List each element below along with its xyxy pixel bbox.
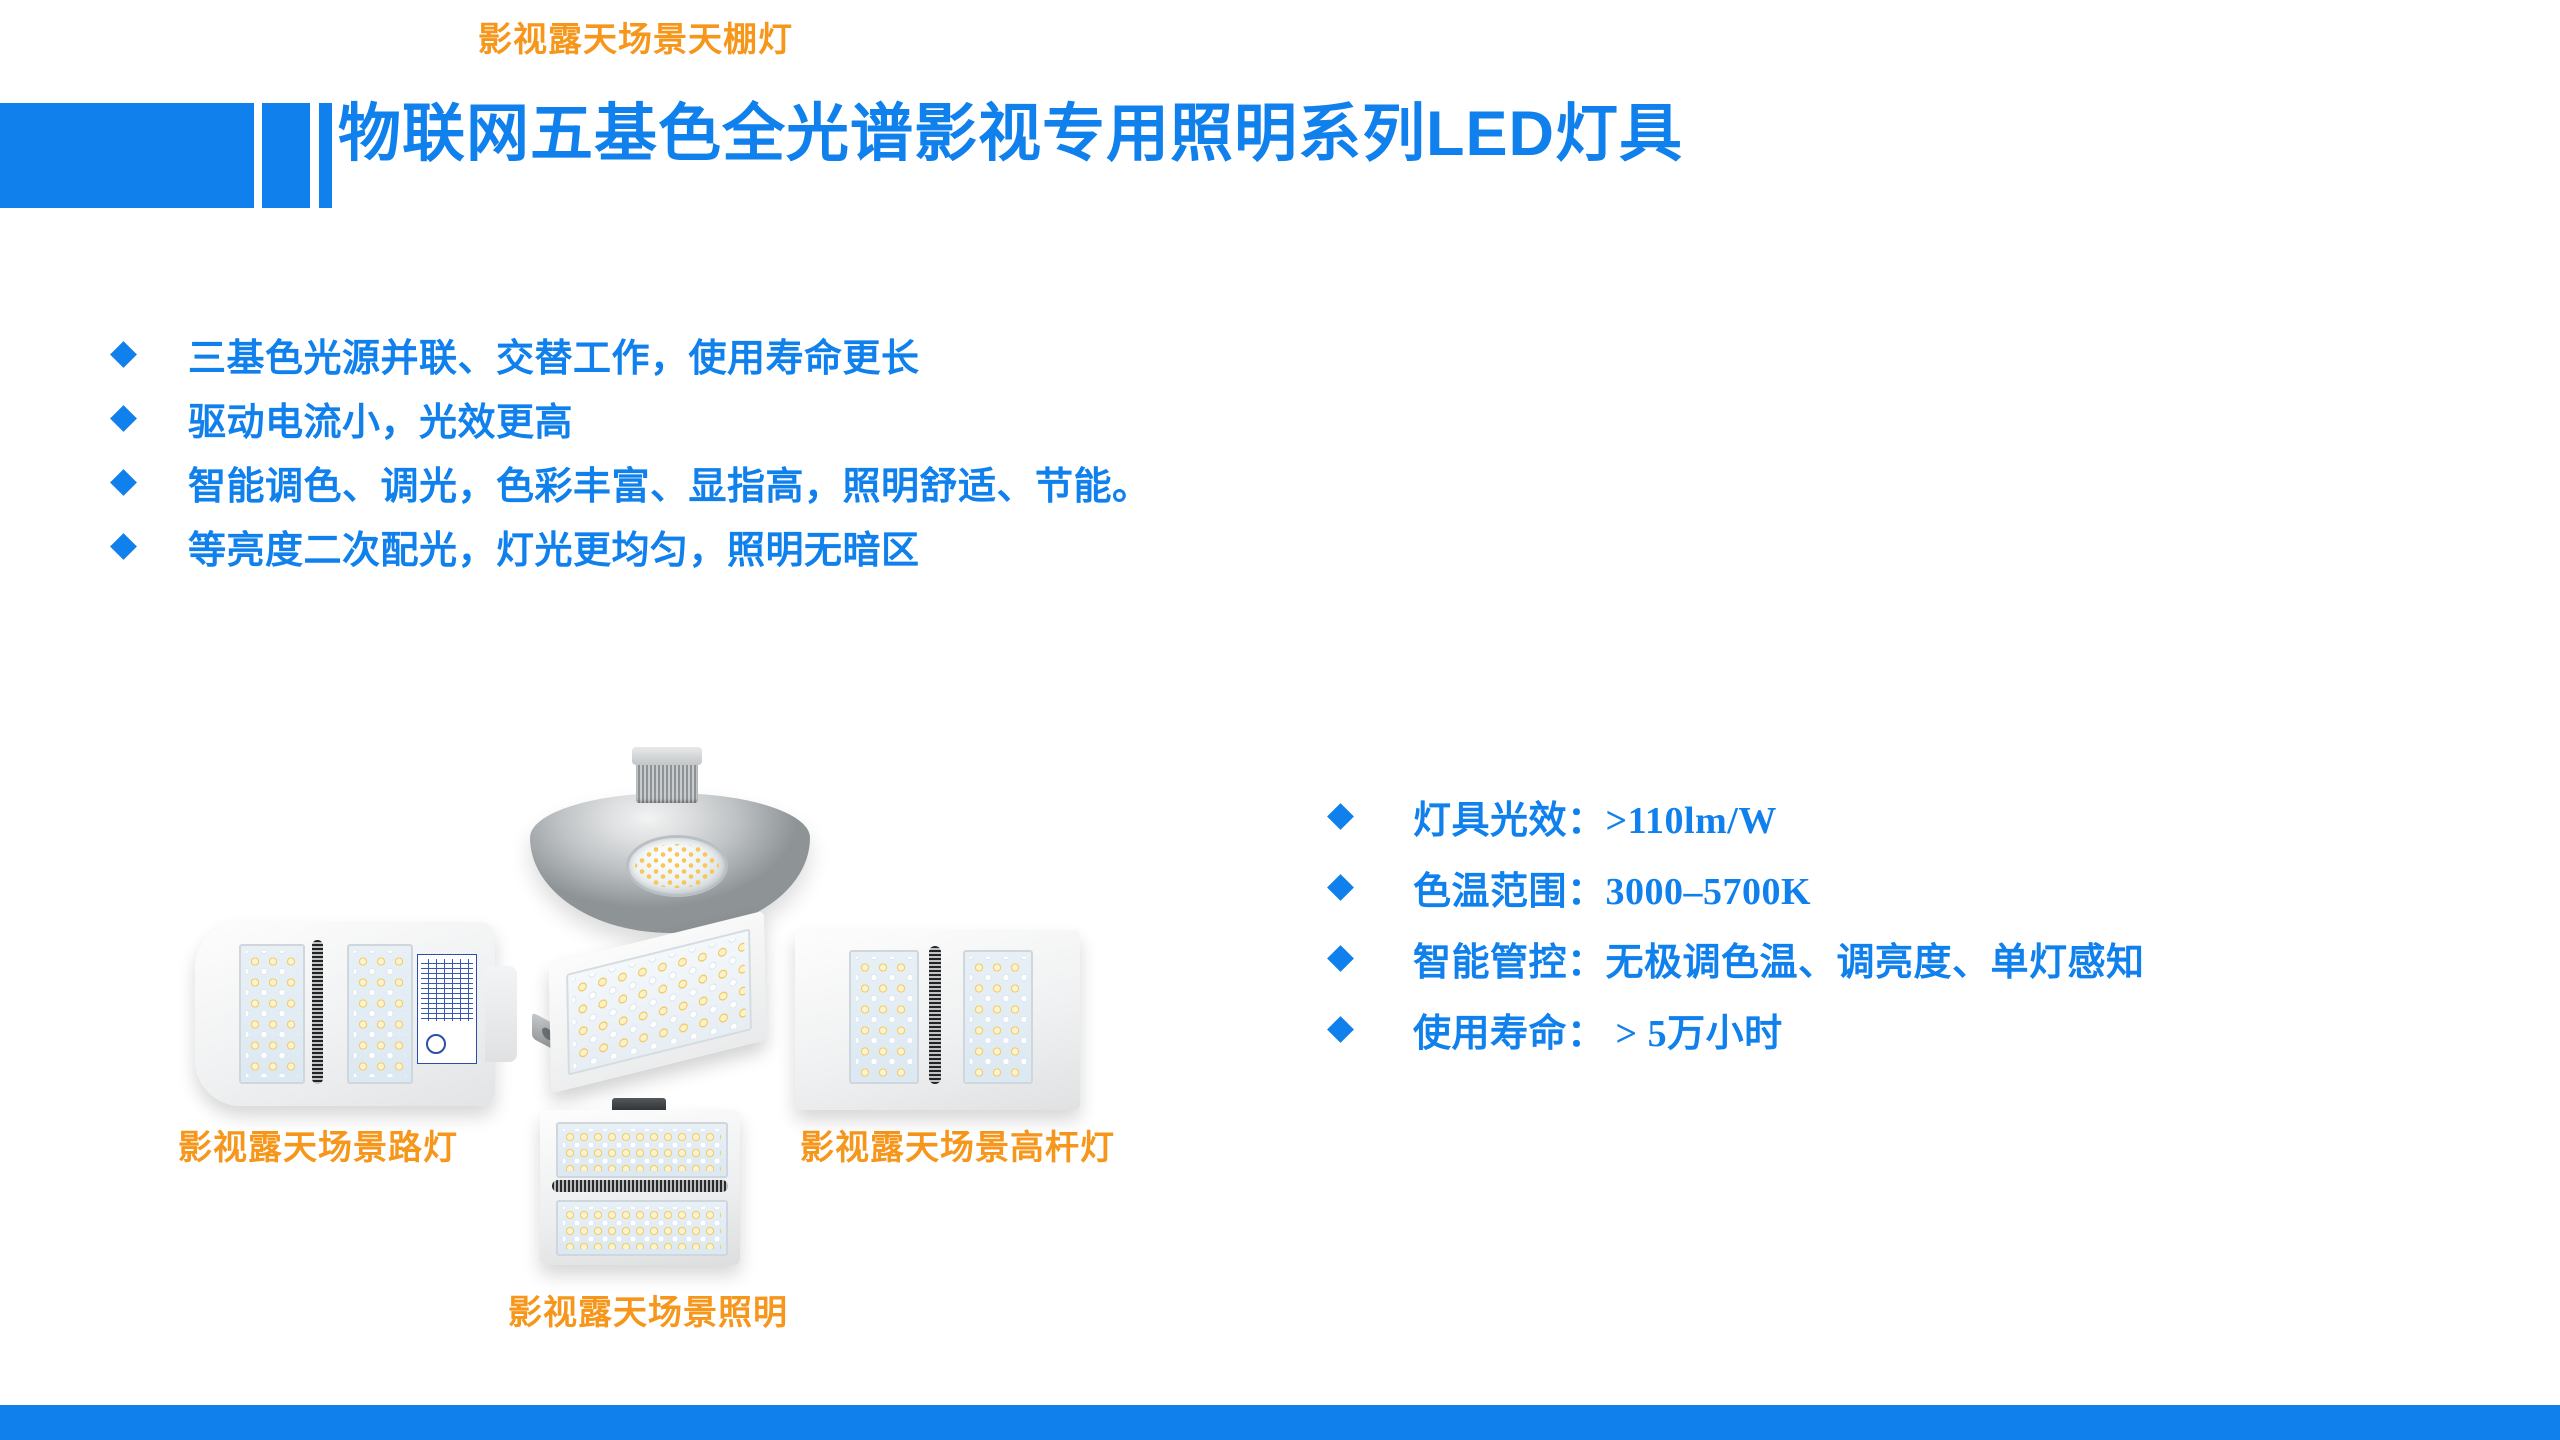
footer-accent-band xyxy=(0,1405,2560,1440)
diamond-bullet-icon xyxy=(1327,1016,1354,1043)
diamond-bullet-icon xyxy=(110,405,137,432)
list-item: 智能调色、调光，色彩丰富、显指高，照明舒适、节能。 xyxy=(110,458,1410,506)
feature-bullet-list: 三基色光源并联、交替工作，使用寿命更长 驱动电流小，光效更高 智能调色、调光，色… xyxy=(110,330,1410,586)
product-image-canopy-light xyxy=(530,755,810,945)
list-item: 灯具光效：>110lm/W xyxy=(1325,790,2425,842)
pole-light-led-panel-right xyxy=(963,950,1033,1084)
list-item: 智能管控：无极调色温、调亮度、单灯感知 xyxy=(1325,932,2425,984)
list-item: 色温范围：3000–5700K xyxy=(1325,861,2425,913)
feature-text: 等亮度二次配光，灯光更均匀，照明无暗区 xyxy=(188,519,920,574)
product-image-tilted-flood-light xyxy=(530,935,770,1100)
product-caption-street: 影视露天场景路灯 xyxy=(178,1120,458,1169)
canopy-top-cap xyxy=(632,747,702,765)
diamond-bullet-icon xyxy=(1327,874,1354,901)
diamond-bullet-icon xyxy=(1327,803,1354,830)
diamond-bullet-icon xyxy=(110,341,137,368)
spec-text: 灯具光效：>110lm/W xyxy=(1413,789,1777,844)
pole-light-led-panel-left xyxy=(849,950,919,1084)
page-title: 物联网五基色全光谱影视专用照明系列LED灯具 xyxy=(338,98,1683,170)
feature-text: 三基色光源并联、交替工作，使用寿命更长 xyxy=(188,327,920,382)
scene-flood-led-panel-top xyxy=(556,1122,728,1178)
list-item: 等亮度二次配光，灯光更均匀，照明无暗区 xyxy=(110,522,1410,570)
product-image-high-pole-light xyxy=(795,930,1080,1110)
list-item: 驱动电流小，光效更高 xyxy=(110,394,1410,442)
street-light-heatsink-strip xyxy=(312,940,323,1084)
product-image-scene-flood-light xyxy=(540,1110,740,1265)
spec-bullet-list: 灯具光效：>110lm/W 色温范围：3000–5700K 智能管控：无极调色温… xyxy=(1325,790,2425,1074)
diamond-bullet-icon xyxy=(1327,945,1354,972)
street-light-led-panel-left xyxy=(239,944,305,1084)
pole-light-heatsink-strip xyxy=(929,946,941,1084)
feature-text: 智能调色、调光，色彩丰富、显指高，照明舒适、节能。 xyxy=(188,455,1151,510)
spec-text: 色温范围：3000–5700K xyxy=(1413,860,1811,915)
canopy-led-lens xyxy=(626,835,728,897)
feature-text: 驱动电流小，光效更高 xyxy=(188,391,573,446)
product-caption-canopy: 影视露天场景天棚灯 xyxy=(478,12,793,61)
list-item: 使用寿命： > 5万小时 xyxy=(1325,1003,2425,1055)
scene-flood-heatsink-strip xyxy=(552,1180,728,1192)
header-accent-block-thin xyxy=(319,103,332,208)
diamond-bullet-icon xyxy=(110,533,137,560)
header-accent-block-medium xyxy=(262,103,310,208)
street-light-led-panel-right xyxy=(347,944,413,1084)
product-image-street-light xyxy=(195,922,495,1106)
street-light-spec-label xyxy=(417,954,477,1064)
spec-text: 使用寿命： > 5万小时 xyxy=(1413,1002,1783,1057)
product-caption-pole: 影视露天场景高杆灯 xyxy=(800,1120,1115,1169)
list-item: 三基色光源并联、交替工作，使用寿命更长 xyxy=(110,330,1410,378)
spec-text: 智能管控：无极调色温、调亮度、单灯感知 xyxy=(1413,931,2145,986)
diamond-bullet-icon xyxy=(110,469,137,496)
scene-flood-led-panel-bottom xyxy=(556,1200,728,1256)
header-accent-block-large xyxy=(0,103,254,208)
product-caption-flood: 影视露天场景照明 xyxy=(508,1285,788,1334)
